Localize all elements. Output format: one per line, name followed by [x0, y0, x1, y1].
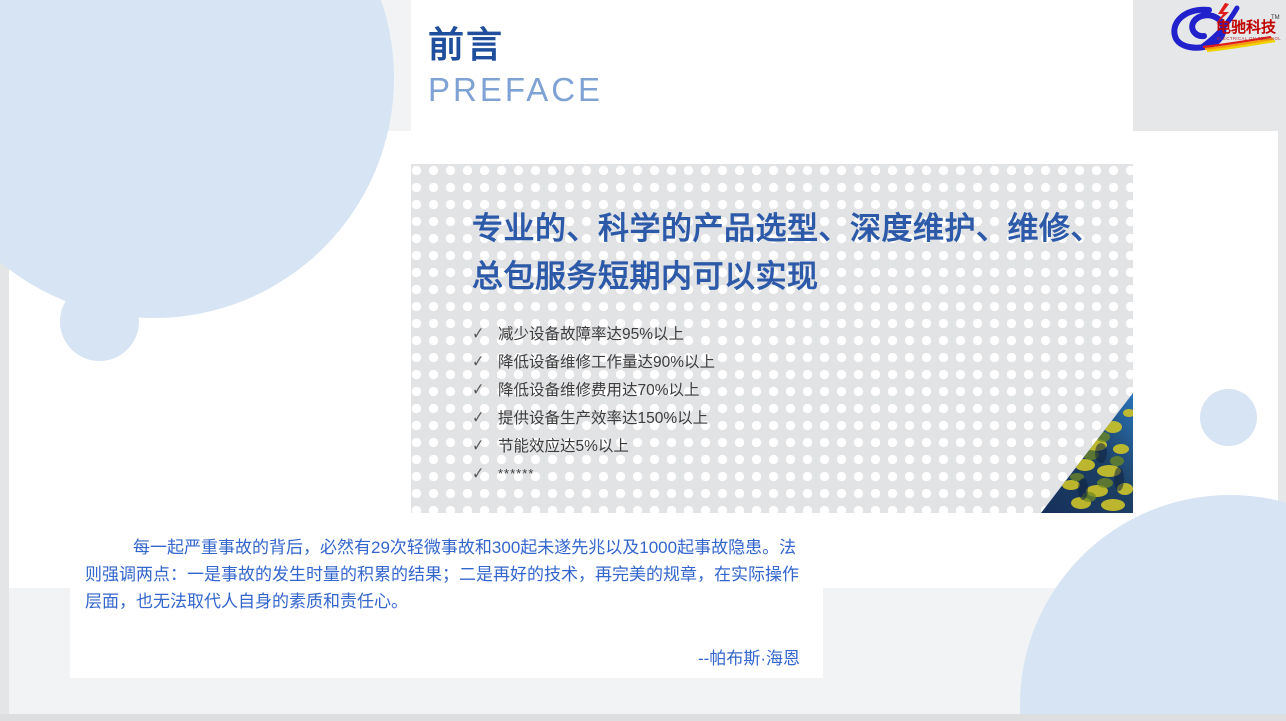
list-item-label: ****** [498, 466, 534, 481]
check-icon: ✓ [472, 465, 496, 482]
list-item-label: 节能效应达5%以上 [498, 434, 629, 456]
list-item-label: 提供设备生产效率达150%以上 [498, 406, 708, 428]
forest-photo-corner [1041, 393, 1133, 513]
logo-graphic: 电驰科技 ELECTRICAL ON TECHNOLOGY TM [1163, 2, 1281, 54]
check-icon: ✓ [472, 325, 496, 342]
logo-name-en: ELECTRICAL ON TECHNOLOGY [1217, 36, 1281, 41]
list-item: ✓ 降低设备维修费用达70%以上 [470, 375, 715, 403]
logo-trademark: TM [1271, 15, 1280, 21]
decorative-circle-small-left [60, 282, 139, 361]
check-icon: ✓ [472, 353, 496, 370]
list-item: ✓ 减少设备故障率达95%以上 [470, 319, 715, 347]
list-item-label: 降低设备维修工作量达90%以上 [498, 350, 715, 372]
headline-line-1: 专业的、科学的产品选型、深度维护、维修、 [472, 211, 1102, 246]
list-item: ✓ 节能效应达5%以上 [470, 431, 715, 459]
page-edge-bottom [0, 714, 1286, 721]
list-item: ✓ ****** [470, 459, 715, 487]
page-title-cn: 前言 [428, 25, 504, 65]
decorative-circle-small-right [1200, 389, 1257, 446]
decorative-circle-bottom-right [1020, 495, 1286, 721]
decorative-circle-top-left [0, 0, 394, 318]
slide-canvas: 前言 PREFACE 电驰科技 ELECTRICAL ON TECHNOLOGY… [0, 0, 1286, 721]
check-icon: ✓ [472, 437, 496, 454]
header-panel [411, 0, 1133, 131]
list-item: ✓ 降低设备维修工作量达90%以上 [470, 347, 715, 375]
quote-author: --帕布斯·海恩 [85, 644, 800, 669]
list-item: ✓ 提供设备生产效率达150%以上 [470, 403, 715, 431]
company-logo: 电驰科技 ELECTRICAL ON TECHNOLOGY TM [1163, 2, 1281, 54]
quote-text: 每一起严重事故的背后，必然有29次轻微事故和300起未遂先兆以及1000起事故隐… [85, 535, 810, 616]
list-item-label: 降低设备维修费用达70%以上 [498, 378, 700, 400]
headline: 专业的、科学的产品选型、深度维护、维修、 总包服务短期内可以实现 [472, 205, 1152, 301]
logo-name-cn: 电驰科技 [1216, 18, 1277, 36]
list-item-label: 减少设备故障率达95%以上 [498, 322, 684, 344]
benefit-list: ✓ 减少设备故障率达95%以上 ✓ 降低设备维修工作量达90%以上 ✓ 降低设备… [470, 319, 715, 487]
check-icon: ✓ [472, 409, 496, 426]
check-icon: ✓ [472, 381, 496, 398]
page-title-en: PREFACE [428, 72, 603, 108]
headline-line-2: 总包服务短期内可以实现 [472, 253, 1152, 301]
